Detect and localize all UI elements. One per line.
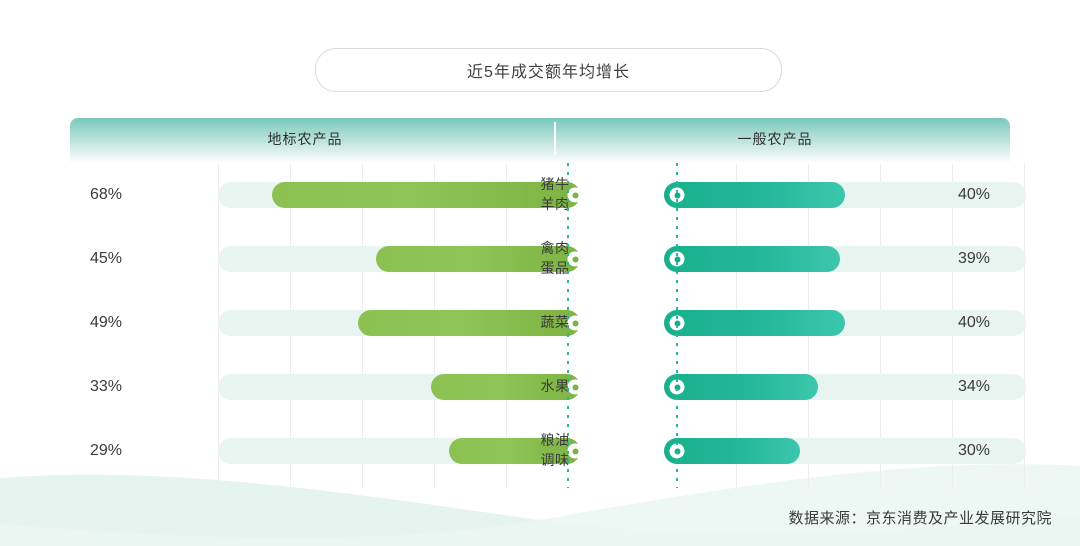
data-source-note: 数据来源：京东消费及产业发展研究院 [788,507,1052,528]
chart-row: 49%蔬菜40% [70,291,1010,355]
category-label-line: 调味 [525,451,585,471]
bar-fill-right[interactable] [664,374,818,400]
chart-row: 45%禽肉蛋品39% [70,227,1010,291]
category-label-line: 猪牛 [525,175,585,195]
value-label-right: 40% [938,186,1010,204]
value-label-right: 39% [938,250,1010,268]
bar-fill-right[interactable] [664,310,845,336]
value-label-left: 45% [70,250,142,268]
page-title: 近5年成交额年均增长 [467,58,630,82]
chart-row: 33%水果34% [70,355,1010,419]
chart-title-pill: 近5年成交额年均增长 [315,48,782,92]
series-label-right: 一般农产品 [540,129,1010,149]
bar-fill-right[interactable] [664,438,800,464]
category-label: 粮油调味 [525,431,585,471]
value-label-left: 68% [70,186,142,204]
chart-row: 68%猪牛羊肉40% [70,163,1010,227]
category-label-line: 蛋品 [525,259,585,279]
category-label: 水果 [525,377,585,397]
value-label-left: 49% [70,314,142,332]
category-label: 猪牛羊肉 [525,175,585,215]
chart-header-band: 地标农产品 一般农产品 [70,118,1010,163]
value-label-left: 33% [70,378,142,396]
value-label-right: 40% [938,314,1010,332]
category-label: 蔬菜 [525,313,585,333]
category-label-line: 蔬菜 [525,313,585,333]
chart-rows: 68%猪牛羊肉40%45%禽肉蛋品39%49%蔬菜40%33%水果34%29%粮… [70,163,1010,488]
category-label-line: 水果 [525,377,585,397]
value-label-left: 29% [70,442,142,460]
dotted-guide-left [567,163,569,488]
series-label-left: 地标农产品 [70,129,540,149]
value-label-right: 34% [938,378,1010,396]
header-divider [554,122,556,155]
category-label-line: 禽肉 [525,239,585,259]
bar-fill-right[interactable] [664,182,845,208]
dotted-guide-right [676,163,678,488]
value-label-right: 30% [938,442,1010,460]
chart-row: 29%粮油调味30% [70,419,1010,483]
bar-fill-right[interactable] [664,246,840,272]
chart-container: 地标农产品 一般农产品 68%猪牛羊肉40%45%禽肉蛋品39%49%蔬菜40%… [70,118,1010,488]
category-label-line: 粮油 [525,431,585,451]
category-label: 禽肉蛋品 [525,239,585,279]
category-label-line: 羊肉 [525,195,585,215]
